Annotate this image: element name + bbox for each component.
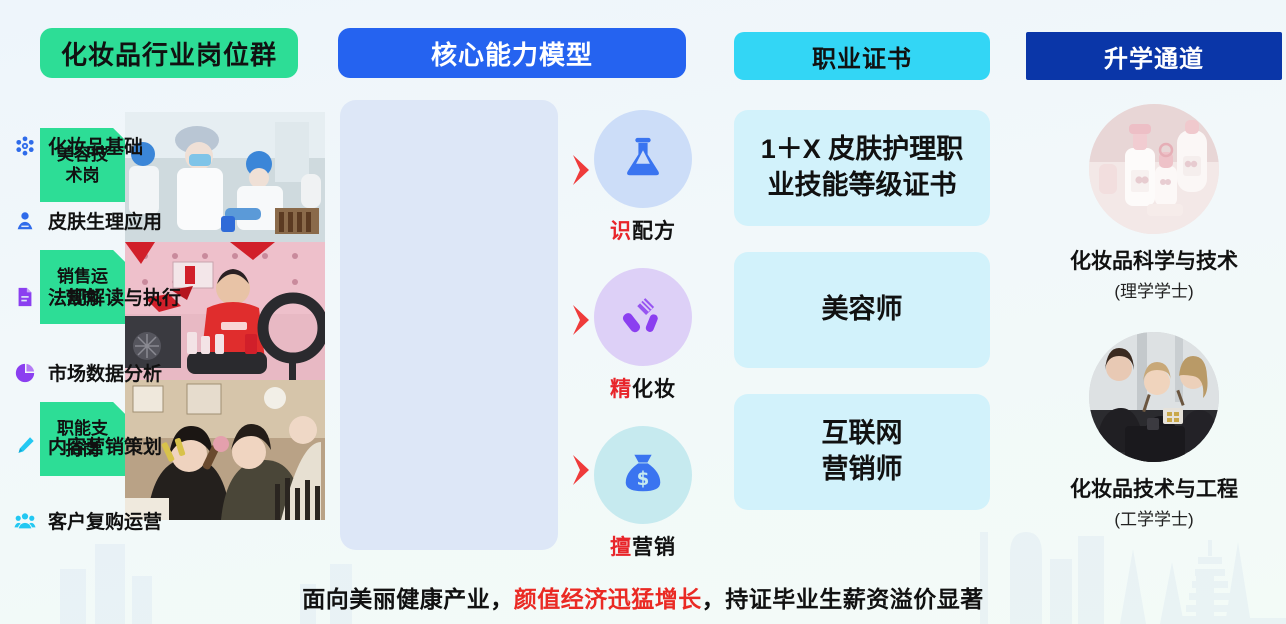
capability-item-market-data[interactable]: 市场数据分析: [14, 359, 162, 386]
capability-item-skin-physiology[interactable]: 皮肤生理应用: [14, 207, 162, 234]
capability-item-cosmetics-basics[interactable]: 化妆品基础: [14, 132, 143, 159]
atom-icon: [14, 135, 36, 157]
capability-item-regulation[interactable]: 法规解读与执行: [14, 283, 181, 310]
pen-icon: [14, 435, 36, 457]
skill-caption: 精化妆: [594, 373, 692, 403]
skill-circle: $: [594, 426, 692, 524]
svg-text:$: $: [637, 468, 650, 489]
footer-highlight: 颜值经济迅猛增长: [514, 586, 702, 612]
cert-line2: 业技能等级证书: [768, 170, 957, 200]
core-capability-panel: [340, 100, 558, 550]
footer-caption: 面向美丽健康产业，颜值经济迅猛增长，持证毕业生薪资溢价显著: [0, 580, 1286, 614]
header-core-model: 核心能力模型: [338, 28, 686, 78]
person-icon: [14, 210, 36, 232]
skill-circle: [594, 110, 692, 208]
header-certificates: 职业证书: [734, 32, 990, 80]
capability-label: 化妆品基础: [48, 132, 143, 159]
degree-cosmetic-science[interactable]: 化妆品科学与技术 (理学学士): [1026, 104, 1282, 302]
people-icon: [14, 510, 36, 532]
pie-chart-icon: [14, 362, 36, 384]
degree-title: 化妆品技术与工程: [1026, 473, 1282, 503]
chevron-right-icon: [569, 153, 595, 187]
degree-subtitle: (工学学士): [1026, 505, 1282, 530]
capability-item-content-marketing[interactable]: 内容营销策划: [14, 432, 162, 459]
cert-line1: 1＋X 皮肤护理职: [761, 134, 964, 164]
certificate-card-internet-marketer[interactable]: 互联网 营销师: [734, 394, 990, 510]
capability-label: 法规解读与执行: [48, 283, 181, 310]
skill-caption: 识配方: [594, 215, 692, 245]
money-bag-icon: $: [620, 450, 666, 501]
certificate-card-beautician[interactable]: 美容师: [734, 252, 990, 368]
makeup-brush-icon: [620, 292, 666, 343]
degree-title: 化妆品科学与技术: [1026, 245, 1282, 275]
header-upgrade-path: 升学通道: [1026, 32, 1282, 80]
cert-line1: 互联网: [822, 418, 903, 448]
header-job-cluster: 化妆品行业岗位群: [40, 28, 298, 78]
capability-label: 客户复购运营: [48, 507, 162, 534]
chevron-right-icon: [569, 453, 595, 487]
capability-label: 市场数据分析: [48, 359, 162, 386]
skill-caption: 擅营销: [594, 531, 692, 561]
flask-icon: [620, 134, 666, 185]
document-icon: [14, 286, 36, 308]
cosmetic-bottles-photo: [1089, 104, 1219, 234]
certificate-card-1x-skincare[interactable]: 1＋X 皮肤护理职 业技能等级证书: [734, 110, 990, 226]
chevron-right-icon: [569, 303, 595, 337]
footer-part2: ，持证毕业生薪资溢价显著: [702, 586, 984, 612]
footer-part1: 面向美丽健康产业，: [302, 586, 514, 612]
job-tag-line2: 术岗: [66, 166, 100, 185]
degree-subtitle: (理学学士): [1026, 277, 1282, 302]
capability-label: 皮肤生理应用: [48, 207, 162, 234]
skill-marketing[interactable]: $ 擅营销: [594, 426, 692, 561]
capability-label: 内容营销策划: [48, 432, 162, 459]
makeup-class-photo: [1089, 332, 1219, 462]
capability-item-customer-repurchase[interactable]: 客户复购运营: [14, 507, 162, 534]
skill-makeup[interactable]: 精化妆: [594, 268, 692, 403]
skill-formula[interactable]: 识配方: [594, 110, 692, 245]
cert-line1: 美容师: [822, 294, 903, 324]
cert-line2: 营销师: [822, 454, 903, 484]
degree-cosmetic-engineering[interactable]: 化妆品技术与工程 (工学学士): [1026, 332, 1282, 530]
skill-circle: [594, 268, 692, 366]
